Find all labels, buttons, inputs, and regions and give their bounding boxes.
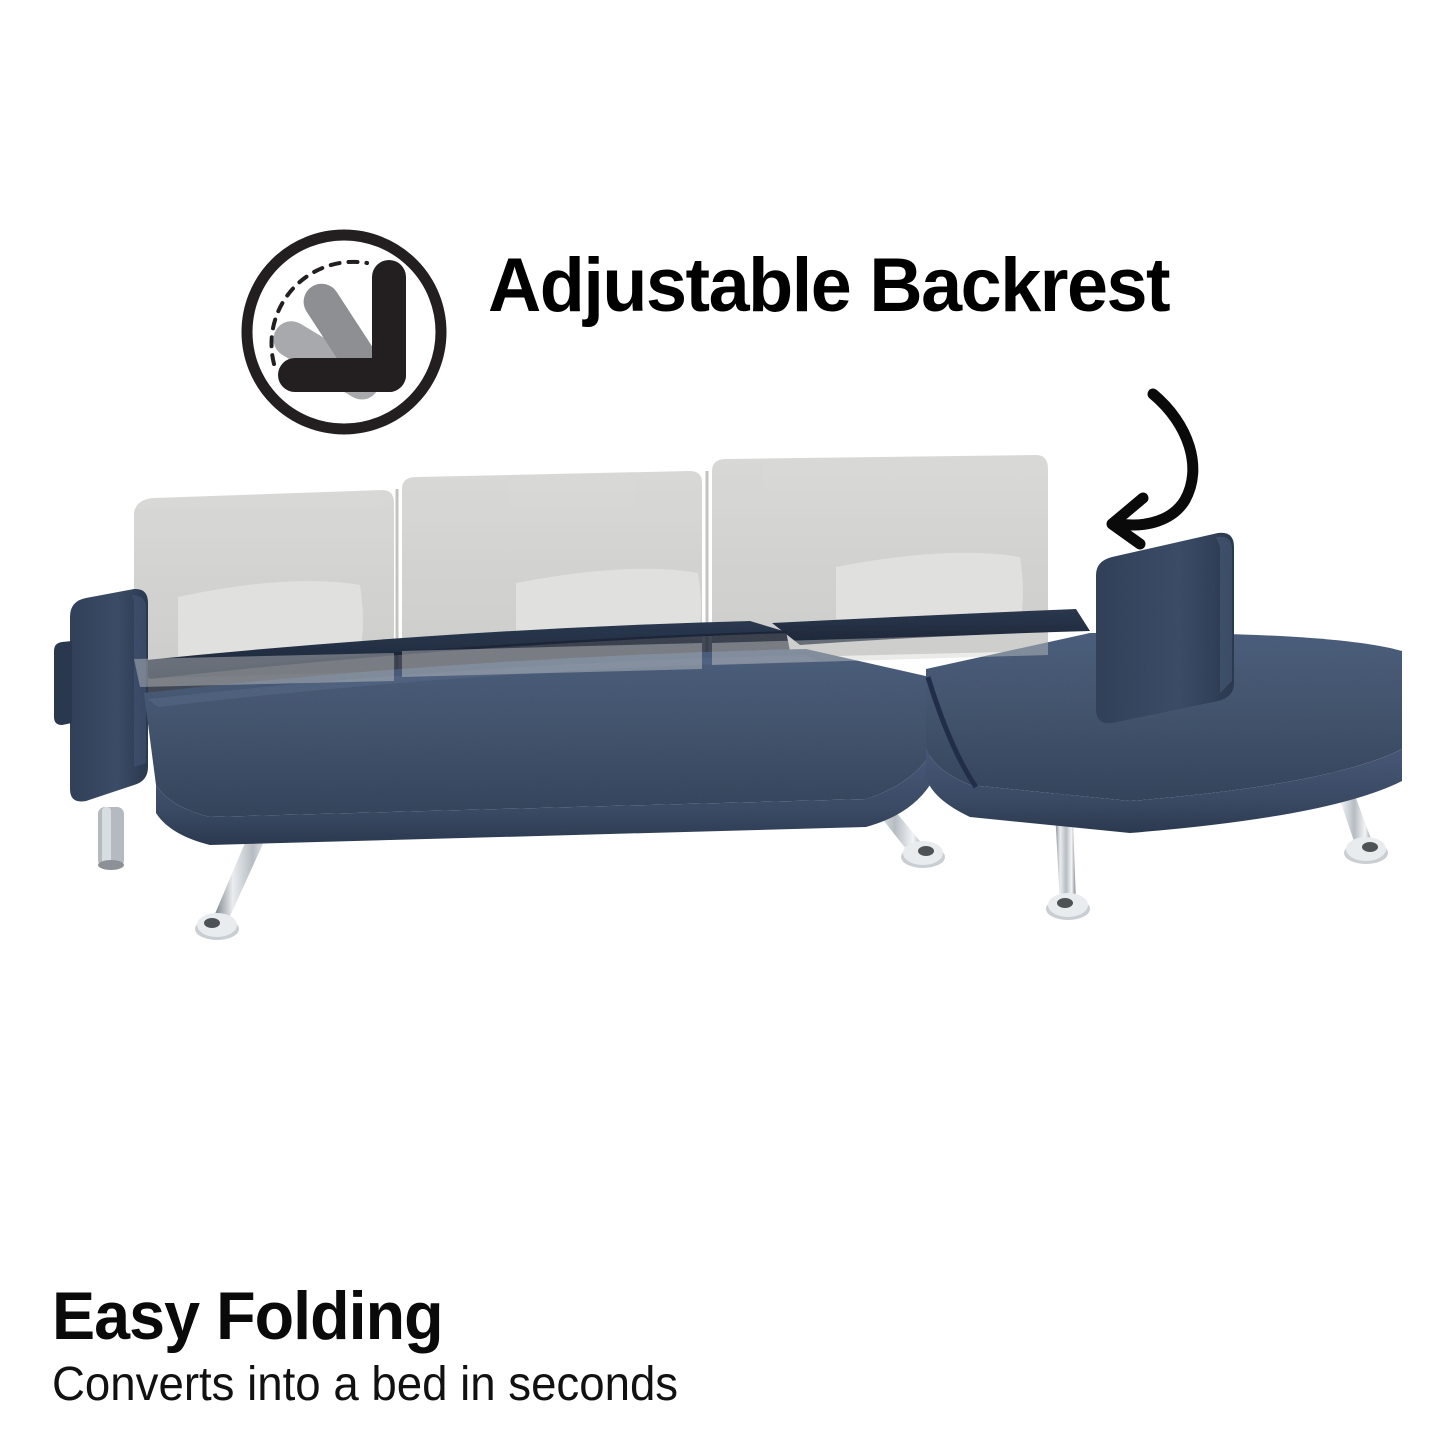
- left-arm-side-bolster: [54, 641, 72, 725]
- feature-title: Adjustable Backrest: [488, 244, 1225, 328]
- navy-blue-sectional-sofa-bed: [30, 455, 1430, 975]
- product-feature-graphic: Adjustable Backrest: [0, 0, 1445, 1445]
- caption-subtext: Converts into a bed in seconds: [52, 1359, 907, 1412]
- left-armrest: [54, 589, 148, 802]
- chaise-back-armrest: [1096, 533, 1234, 723]
- leg-left-arm-cylinder: [98, 807, 124, 870]
- sofa-svg: [30, 455, 1430, 975]
- seat-base-bar: [278, 358, 406, 392]
- bottom-caption: Easy Folding Converts into a bed in seco…: [52, 1282, 952, 1412]
- adjustable-backrest-icon-svg: [236, 224, 452, 440]
- adjustable-backrest-icon: [236, 224, 452, 440]
- caption-heading: Easy Folding: [52, 1282, 907, 1351]
